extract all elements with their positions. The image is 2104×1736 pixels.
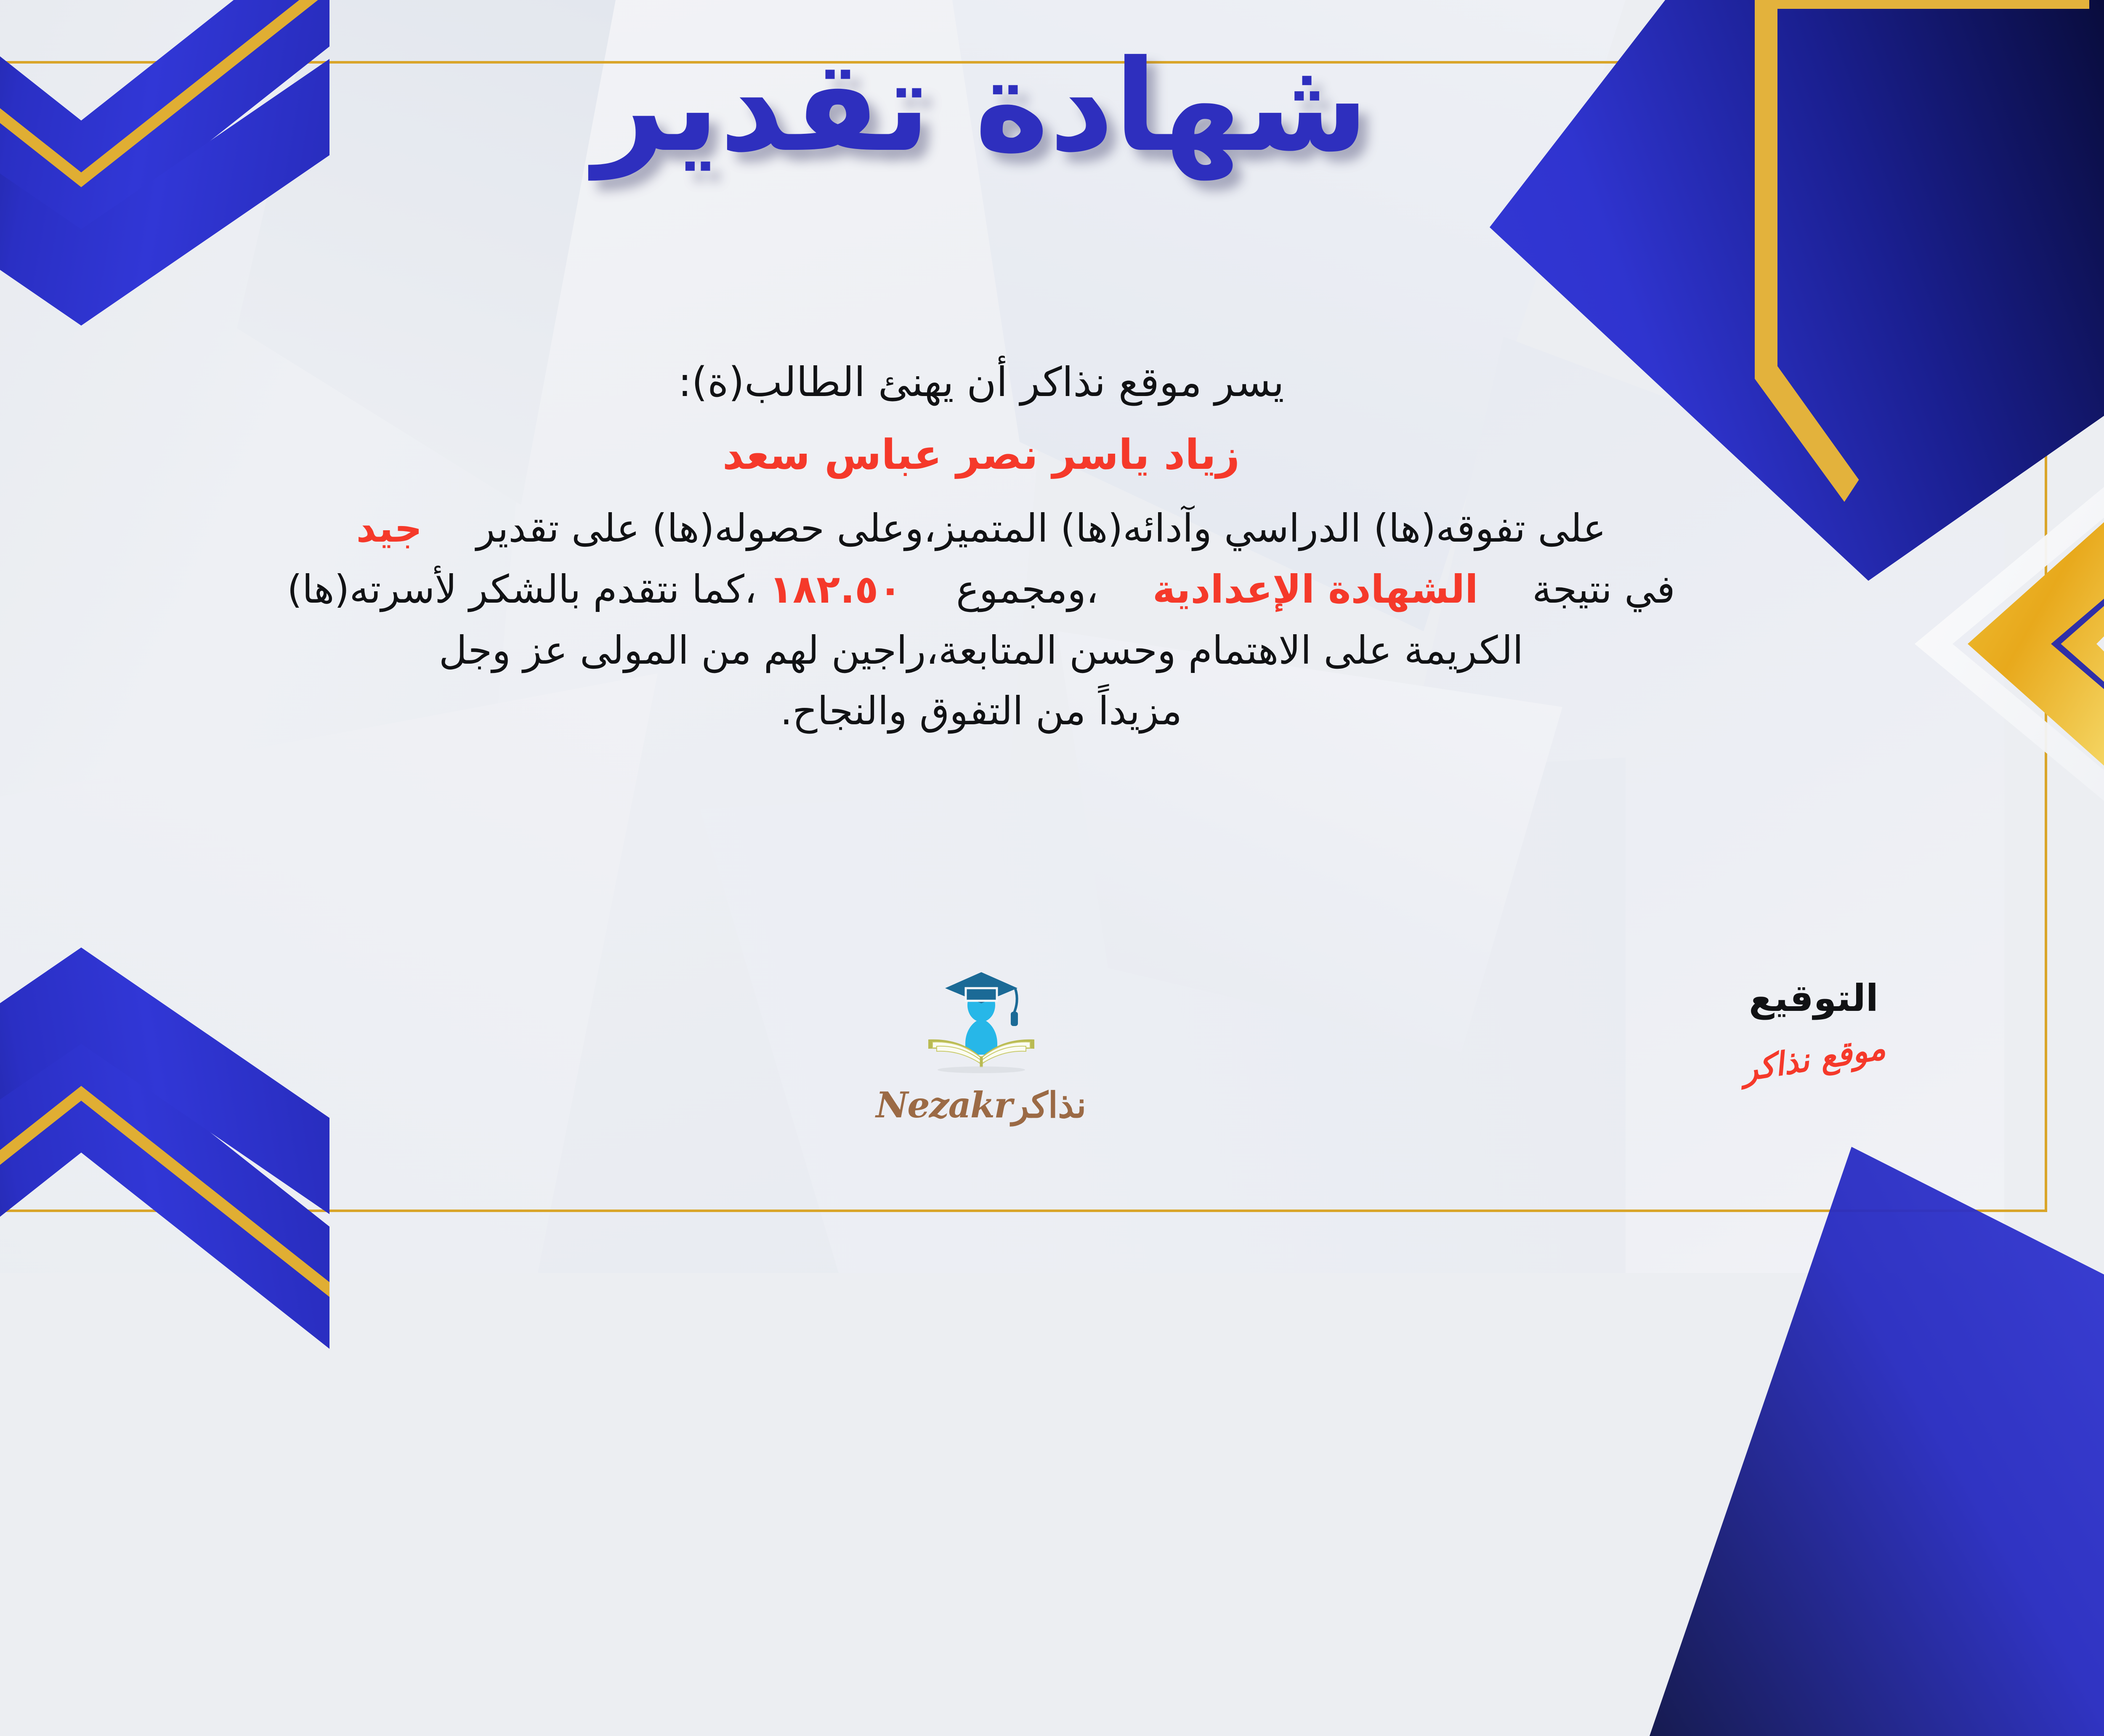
- intro-line: يسر موقع نذاكر أن يهنئ الطالب(ة):: [0, 354, 2045, 411]
- certificate-body: يسر موقع نذاكر أن يهنئ الطالب(ة): زياد ي…: [0, 354, 2045, 739]
- certificate-title: شهادة تقدير: [0, 40, 2104, 173]
- thanks-prefix: ،كما نتقدم بالشكر لأسرته(ها): [287, 567, 757, 612]
- logo-arabic-text: نذاكر: [1012, 1084, 1086, 1126]
- student-name: زياد ياسر نصر عباس سعد: [0, 426, 2045, 484]
- family-thanks-line: الكريمة على الاهتمام وحسن المتابعة،راجين…: [0, 623, 2045, 678]
- exam-name: الشهادة الإعدادية: [1153, 567, 1478, 612]
- signature-mark: موقع نذاكر: [1739, 1029, 1888, 1089]
- logo-latin-text: Nezakr: [876, 1084, 1012, 1126]
- total-score: ١٨٢.٥٠: [769, 567, 902, 612]
- achievement-text: على تفوقه(ها) الدراسي وآدائه(ها) المتميز…: [476, 506, 1606, 551]
- achievement-line: على تفوقه(ها) الدراسي وآدائه(ها) المتميز…: [0, 501, 2045, 556]
- total-label: ،ومجموع: [956, 567, 1098, 612]
- graduate-book-icon: [918, 960, 1044, 1082]
- grade-value: جيد: [356, 506, 422, 551]
- closing-line: مزيداً من التفوق والنجاح.: [0, 684, 2045, 739]
- logo-wordmark: نذاكرNezakr: [863, 1084, 1099, 1126]
- signature-area: التوقيع موقع نذاكر: [1679, 976, 1948, 1077]
- exam-result-line: في نتيجة الشهادة الإعدادية ،ومجموع ١٨٢.٥…: [0, 562, 2045, 617]
- nezakr-logo: نذاكرNezakr: [863, 960, 1099, 1126]
- result-prefix: في نتيجة: [1532, 567, 1675, 612]
- signature-label: التوقيع: [1679, 976, 1948, 1020]
